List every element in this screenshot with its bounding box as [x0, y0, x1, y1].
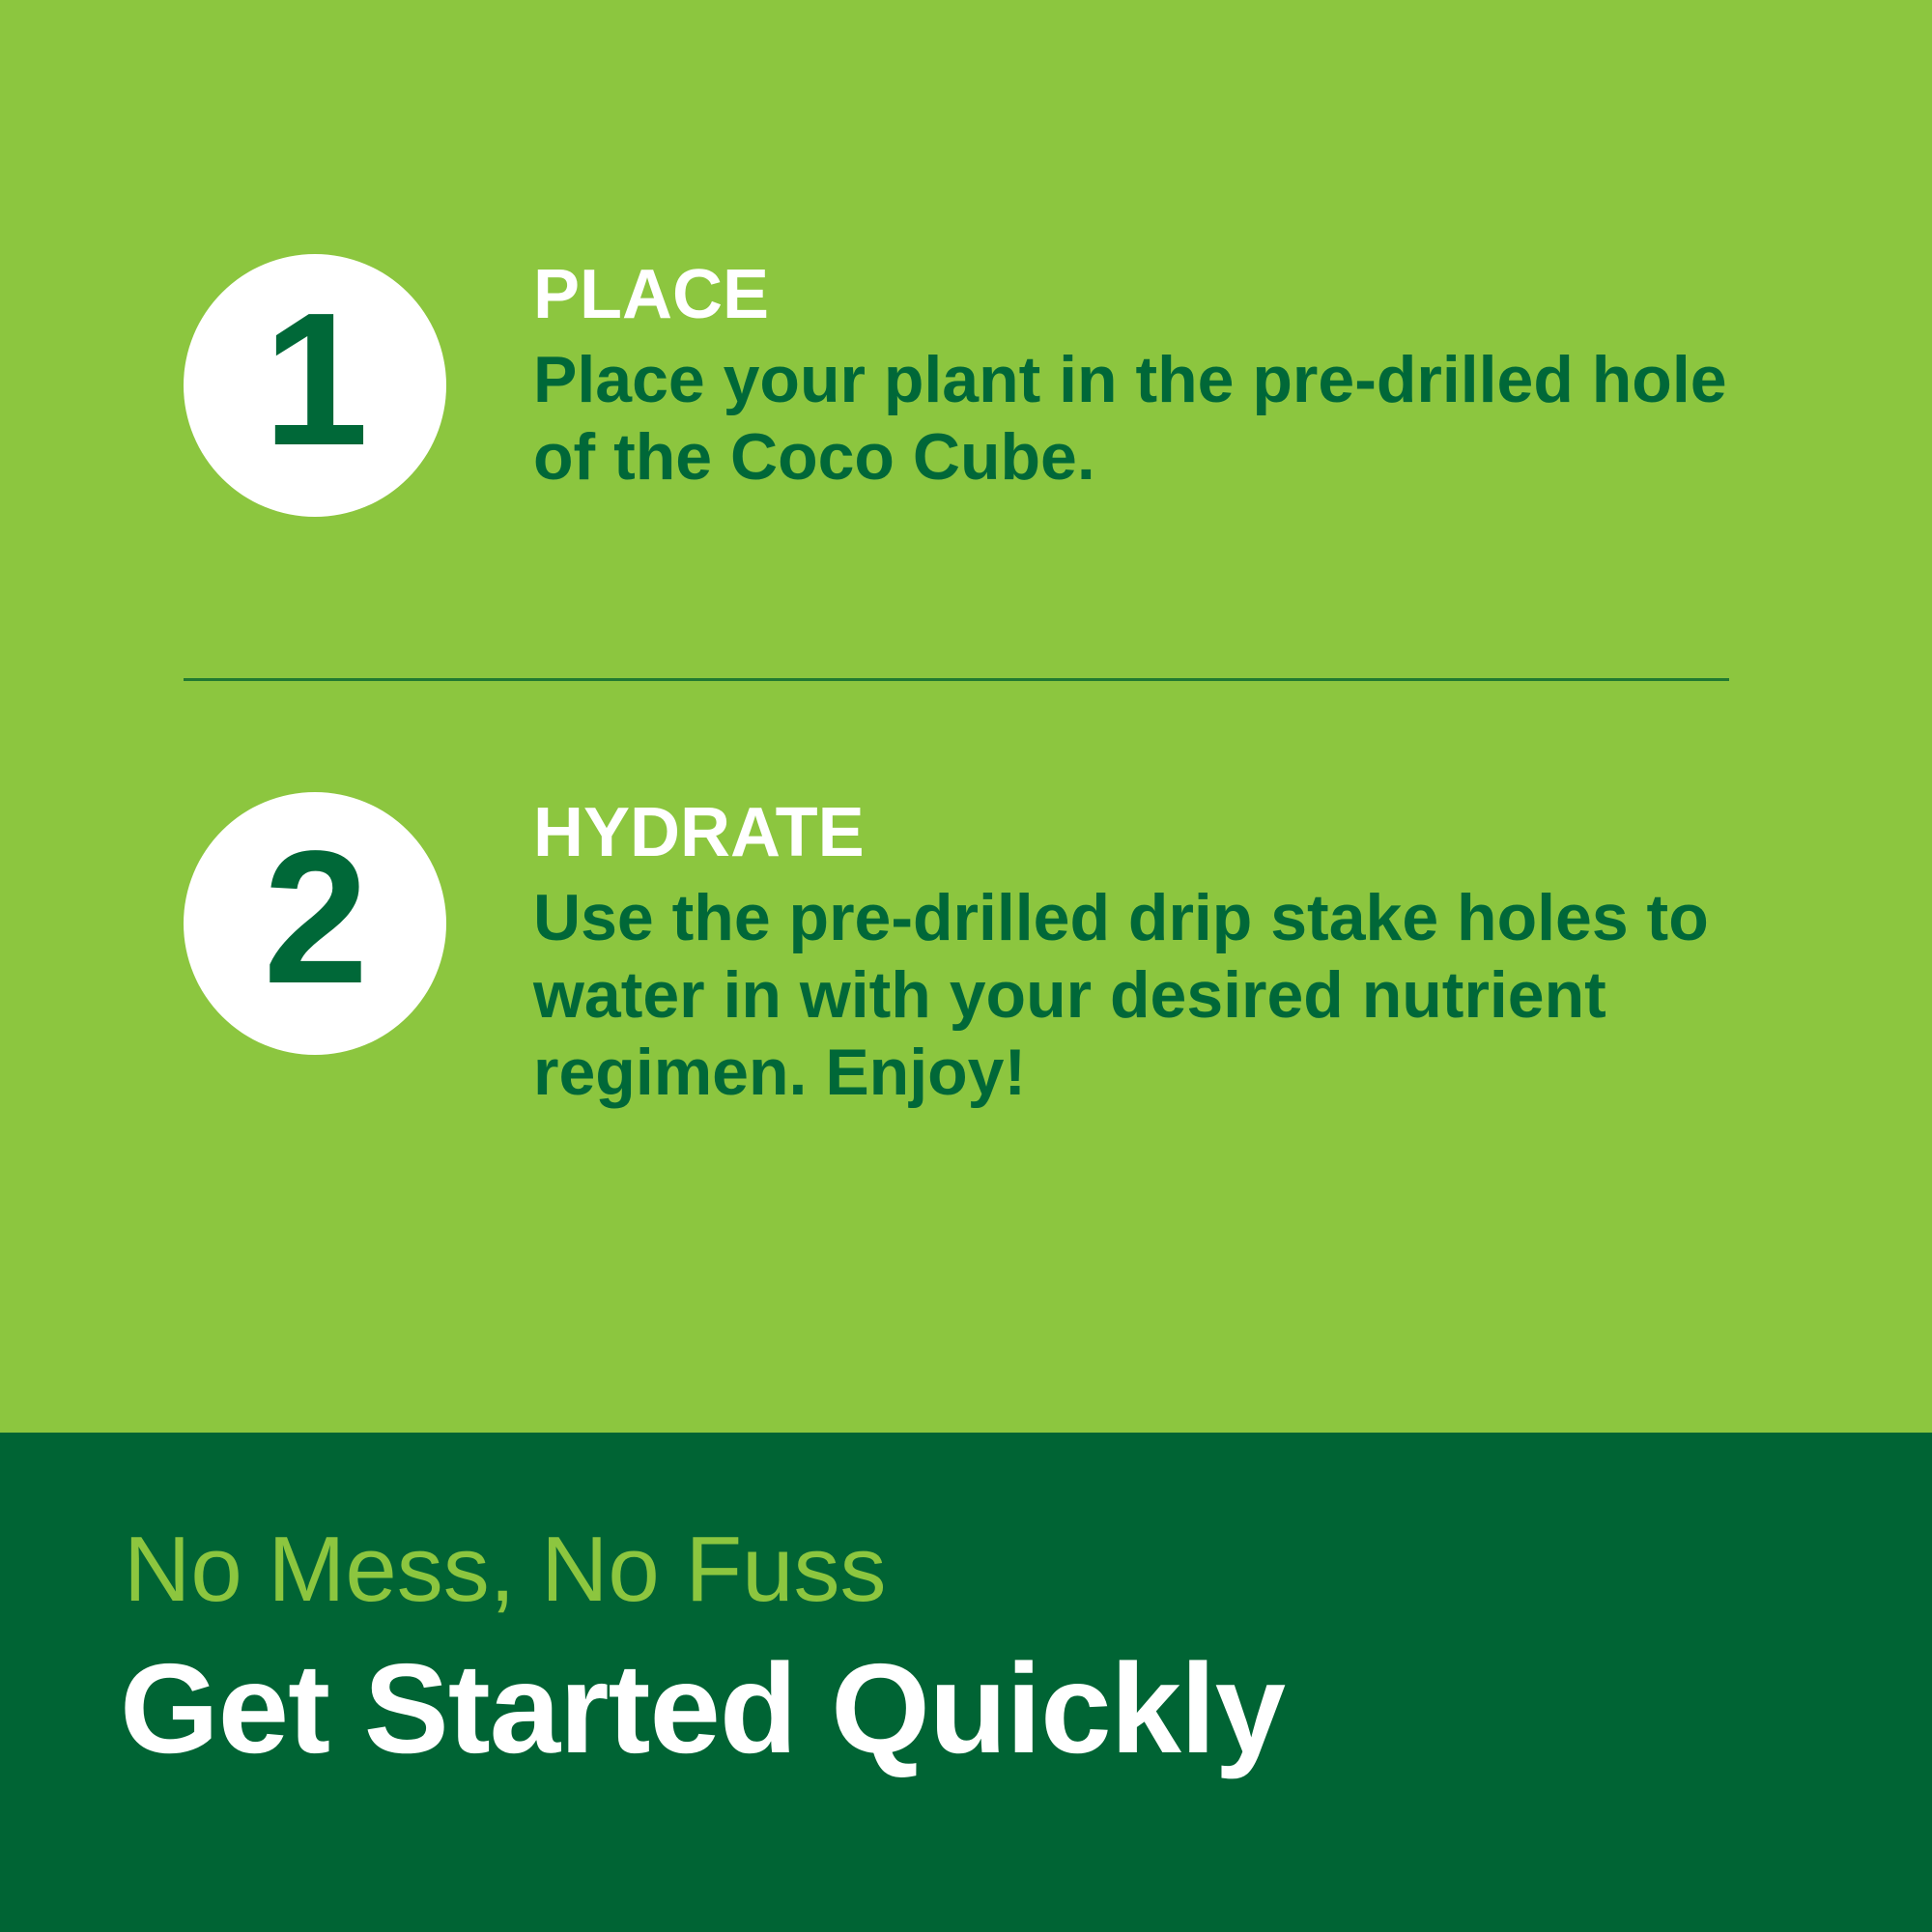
step-title-2: HYDRATE: [533, 798, 1746, 867]
promo-poster: 1 PLACE Place your plant in the pre-dril…: [0, 0, 1932, 1932]
step-body-2: Use the pre-drilled drip stake holes to …: [533, 879, 1746, 1112]
steps-section: 1 PLACE Place your plant in the pre-dril…: [0, 0, 1932, 1433]
step-title-1: PLACE: [533, 260, 1746, 329]
step-divider: [184, 678, 1729, 681]
step-item-1: 1 PLACE Place your plant in the pre-dril…: [184, 254, 1746, 517]
step-item-2: 2 HYDRATE Use the pre-drilled drip stake…: [184, 792, 1746, 1112]
step-body-1: Place your plant in the pre-drilled hole…: [533, 341, 1746, 496]
step-number-1: 1: [263, 285, 366, 474]
banner-headline: Get Started Quickly: [120, 1645, 1285, 1773]
banner-eyebrow: No Mess, No Fuss: [124, 1523, 887, 1616]
step-number-2: 2: [263, 823, 366, 1012]
step-number-badge-1: 1: [184, 254, 446, 517]
step-text-2: HYDRATE Use the pre-drilled drip stake h…: [533, 792, 1746, 1112]
step-number-badge-2: 2: [184, 792, 446, 1055]
step-text-1: PLACE Place your plant in the pre-drille…: [533, 254, 1746, 496]
bottom-banner: No Mess, No Fuss Get Started Quickly: [0, 1433, 1932, 1932]
